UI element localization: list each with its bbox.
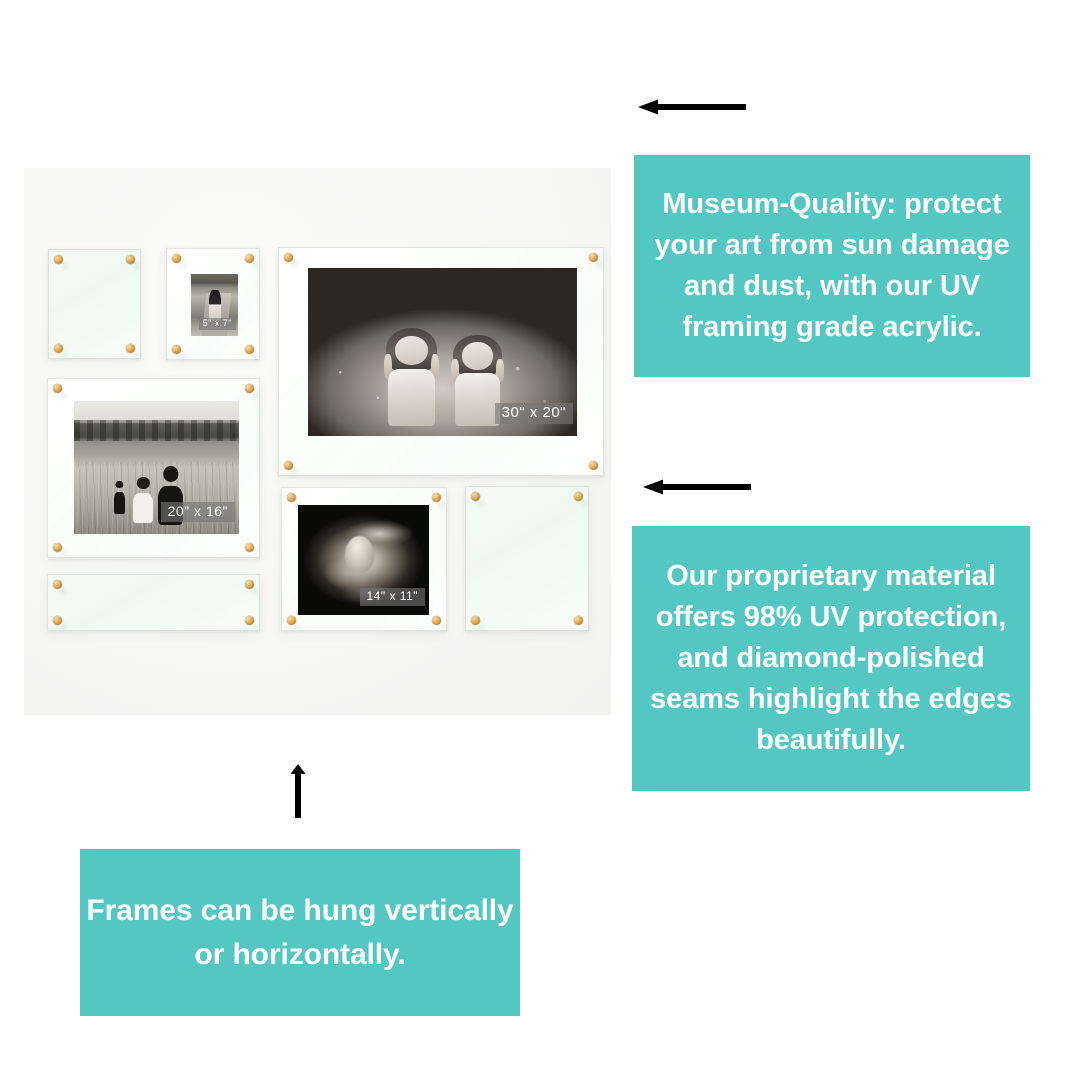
standoff-screw-icon [245,543,254,552]
frame-photo-5x7[interactable]: 5" x 7" [166,248,260,360]
standoff-screw-icon [53,580,62,589]
standoff-screw-icon [245,254,254,263]
standoff-screw-icon [245,384,254,393]
standoff-screw-icon [589,461,598,470]
photo-14x11: 14" x 11" [298,505,429,615]
standoff-screw-icon [284,461,293,470]
standoff-screw-icon [53,616,62,625]
standoff-screw-icon [126,255,135,264]
callout-hanging-text: Frames can be hung vertically or horizon… [80,889,520,976]
arrow-up-icon [283,762,313,820]
standoff-screw-icon [574,616,583,625]
standoff-screw-icon [574,492,583,501]
callout-uv-text: Our proprietary material offers 98% UV p… [632,556,1030,760]
arrow-left-icon [636,92,752,122]
figure-child-middle [133,477,153,524]
standoff-screw-icon [471,616,480,625]
standoff-screw-icon [589,253,598,262]
standoff-screw-icon [284,253,293,262]
callout-museum-quality: Museum-Quality: protect your art from su… [634,155,1030,377]
standoff-screw-icon [54,344,63,353]
frame-empty-portrait-bottom-right[interactable] [465,486,589,631]
standoff-screw-icon [471,492,480,501]
gallery-wall: 5" x 7" 30" x 20 [24,168,611,715]
standoff-screw-icon [287,493,296,502]
standoff-screw-icon [53,384,62,393]
size-label-14x11: 14" x 11" [360,588,426,606]
frame-photo-14x11[interactable]: 14" x 11" [281,487,447,631]
frame-empty-portrait-top-left[interactable] [48,249,141,359]
size-label-5x7: 5" x 7" [199,318,236,330]
standoff-screw-icon [245,345,254,354]
photo-5x7: 5" x 7" [191,274,238,336]
callout-uv-protection: Our proprietary material offers 98% UV p… [632,526,1030,791]
standoff-screw-icon [172,345,181,354]
arrow-left-icon [641,472,757,502]
frame-photo-20x16[interactable]: 20" x 16" [47,378,260,558]
callout-museum-text: Museum-Quality: protect your art from su… [634,184,1030,348]
photo-20x16: 20" x 16" [74,401,239,534]
standoff-screw-icon [172,254,181,263]
standoff-screw-icon [287,616,296,625]
standoff-screw-icon [432,616,441,625]
figure-child-small [114,481,126,514]
size-label-20x16: 20" x 16" [161,502,235,522]
standoff-screw-icon [432,493,441,502]
photo-30x20: 30" x 20" [308,268,577,436]
size-label-30x20: 30" x 20" [495,403,573,425]
frame-empty-wide-bottom-left[interactable] [47,574,260,631]
standoff-screw-icon [54,255,63,264]
standoff-screw-icon [126,344,135,353]
frame-photo-30x20[interactable]: 30" x 20" [278,247,604,476]
standoff-screw-icon [245,616,254,625]
figure-girl-left [386,328,437,425]
callout-hanging-orientation: Frames can be hung vertically or horizon… [80,849,520,1016]
standoff-screw-icon [53,543,62,552]
standoff-screw-icon [245,580,254,589]
